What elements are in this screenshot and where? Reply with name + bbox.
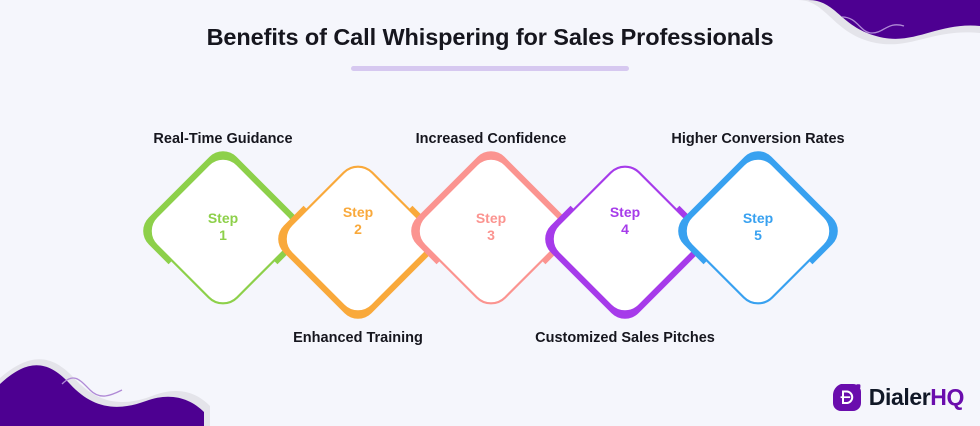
diamond-shape-icon bbox=[560, 174, 690, 304]
diamond-shape-icon bbox=[158, 166, 288, 296]
title-underline-rule bbox=[351, 66, 629, 71]
infographic-canvas: Benefits of Call Whispering for Sales Pr… bbox=[0, 0, 980, 426]
step-diamond-5[interactable]: Step 5 bbox=[693, 166, 823, 296]
step-diamond-4[interactable]: Step 4 bbox=[560, 174, 690, 304]
dialerhq-logo-text: DialerHQ bbox=[869, 386, 964, 409]
step-diamond-2[interactable]: Step 2 bbox=[293, 174, 423, 304]
diamond-shape-icon bbox=[293, 174, 423, 304]
dialerhq-logo[interactable]: DialerHQ bbox=[832, 382, 964, 412]
steps-row: Real-Time Guidance Step 1 Enhanced Train… bbox=[0, 118, 980, 368]
step-diamond-1[interactable]: Step 1 bbox=[158, 166, 288, 296]
dialerhq-logo-mark-icon bbox=[832, 382, 862, 412]
step-diamond-3[interactable]: Step 3 bbox=[426, 166, 556, 296]
step-item-5: Higher Conversion Rates Step 5 bbox=[674, 118, 842, 368]
diamond-shape-icon bbox=[426, 166, 556, 296]
logo-name-primary: Dialer bbox=[869, 384, 931, 410]
step-caption-5: Higher Conversion Rates bbox=[632, 131, 884, 147]
logo-name-secondary: HQ bbox=[930, 384, 964, 410]
diamond-shape-icon bbox=[693, 166, 823, 296]
title-block: Benefits of Call Whispering for Sales Pr… bbox=[0, 24, 980, 71]
page-title: Benefits of Call Whispering for Sales Pr… bbox=[0, 24, 980, 51]
